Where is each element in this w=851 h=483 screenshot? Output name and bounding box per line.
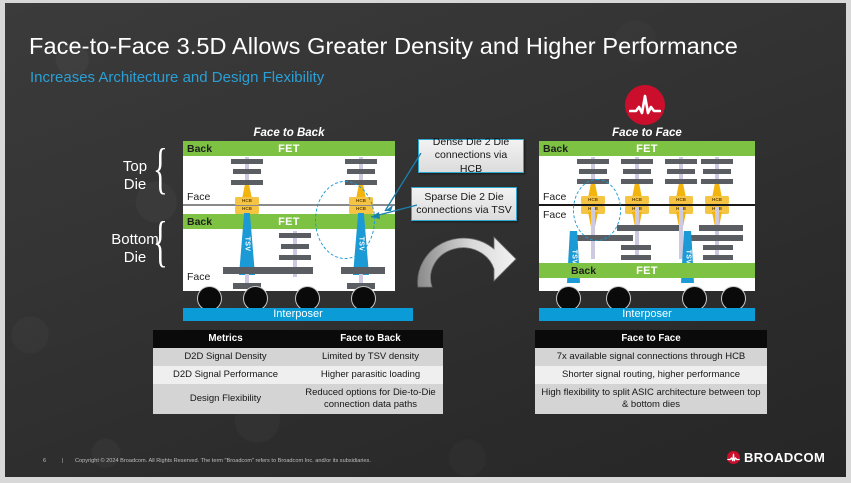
broadcom-footer-logo: BROADCOM: [727, 450, 825, 465]
metal-layer: [621, 159, 653, 164]
table-header-cell: Face to Back: [298, 330, 443, 348]
table-cell: D2D Signal Density: [153, 348, 298, 366]
bond-pad: [341, 267, 385, 274]
table-header-row: Metrics Face to Back: [153, 330, 443, 348]
bottom-die-brace: {: [153, 214, 168, 270]
broadcom-wordmark: BROADCOM: [744, 450, 825, 465]
page-number: 6: [43, 458, 46, 464]
right-top-die-back-band: Back FET: [539, 141, 755, 156]
face-to-back-table: Metrics Face to Back D2D Signal Density …: [153, 330, 443, 414]
right-bottom-die-back-band: Back FET: [539, 263, 755, 278]
table-row: High flexibility to split ASIC architect…: [535, 384, 767, 414]
face-to-face-table: Face to Face 7x available signal connect…: [535, 330, 767, 414]
page-subtitle: Increases Architecture and Design Flexib…: [30, 69, 324, 86]
via: [715, 207, 719, 259]
bond-pad: [687, 235, 743, 241]
broadcom-logo-icon: [727, 451, 740, 464]
right-bottom-face-label: Face: [543, 209, 566, 221]
footer-separator: |: [62, 458, 63, 464]
table-cell: D2D Signal Performance: [153, 366, 298, 384]
metal-layer: [231, 180, 263, 185]
copyright-text: Copyright © 2024 Broadcom. All Rights Re…: [75, 458, 371, 464]
table-cell: Reduced options for Die-to-Die connectio…: [298, 384, 443, 414]
via: [635, 207, 639, 259]
hcb-block: HCB: [705, 196, 729, 204]
metal-layer: [279, 255, 311, 260]
metal-layer: [703, 245, 733, 250]
metal-layer: [621, 255, 651, 260]
page-title: Face-to-Face 3.5D Allows Greater Density…: [29, 33, 738, 60]
hcb-block: HCB: [235, 206, 259, 214]
hcb-block: HCB: [625, 196, 649, 204]
right-bottom-fet-label: FET: [539, 265, 755, 277]
left-bottom-face-label: Face: [187, 271, 210, 283]
metal-layer: [701, 159, 733, 164]
slide-canvas: Face-to-Face 3.5D Allows Greater Density…: [5, 3, 846, 477]
metal-layer: [703, 169, 731, 174]
table-cell: 7x available signal connections through …: [535, 348, 767, 366]
metal-layer: [231, 159, 263, 164]
metal-layer: [233, 169, 261, 174]
hcb-highlight-ellipse: [573, 179, 621, 241]
bottom-die-label: Bottom Die: [85, 231, 185, 266]
table-cell: High flexibility to split ASIC architect…: [535, 384, 767, 414]
right-interposer-bar: Interposer: [539, 308, 755, 321]
metal-layer: [665, 179, 697, 184]
metal-layer: [579, 169, 607, 174]
metal-layer: [703, 255, 733, 260]
top-die-brace: {: [153, 141, 168, 197]
metal-layer: [701, 179, 733, 184]
table-cell: Design Flexibility: [153, 390, 298, 408]
metal-layer: [279, 233, 311, 238]
table-row: D2D Signal Performance Higher parasitic …: [153, 366, 443, 384]
bond-pad: [223, 267, 313, 274]
table-row: D2D Signal Density Limited by TSV densit…: [153, 348, 443, 366]
table-row: Shorter signal routing, higher performan…: [535, 366, 767, 384]
table-row: Design Flexibility Reduced options for D…: [153, 384, 443, 414]
bond-pad: [617, 225, 679, 231]
left-interposer-bar: Interposer: [183, 308, 413, 321]
table-cell: Shorter signal routing, higher performan…: [535, 366, 767, 384]
right-diagram-title: Face to Face: [539, 127, 755, 139]
via: [679, 207, 683, 259]
table-cell: Limited by TSV density: [298, 348, 443, 366]
hcb-block: HCB: [235, 197, 259, 205]
metal-layer: [577, 159, 609, 164]
hcb-block: HCB: [669, 196, 693, 204]
metal-layer: [667, 169, 695, 174]
bond-pad: [699, 225, 743, 231]
right-top-fet-label: FET: [539, 143, 755, 155]
table-row: 7x available signal connections through …: [535, 348, 767, 366]
callout-leader-line-tsv: [365, 199, 545, 225]
metal-layer: [281, 244, 309, 249]
table-header-cell: Face to Face: [535, 330, 767, 348]
metal-layer: [665, 159, 697, 164]
broadcom-logo-mark: [625, 85, 665, 125]
transition-arrow-icon: [410, 225, 520, 297]
metal-layer: [621, 245, 651, 250]
metal-layer: [623, 169, 651, 174]
right-diagram-panel: Back FET Face Face HCB HCB HCB HCB HCB: [539, 141, 755, 291]
table-header-cell: Metrics: [153, 330, 298, 348]
left-diagram-title: Face to Back: [183, 127, 395, 139]
metal-layer: [621, 179, 653, 184]
table-header-row: Face to Face: [535, 330, 767, 348]
left-top-face-label: Face: [187, 191, 210, 203]
table-cell: Higher parasitic loading: [298, 366, 443, 384]
right-top-face-label: Face: [543, 191, 566, 203]
